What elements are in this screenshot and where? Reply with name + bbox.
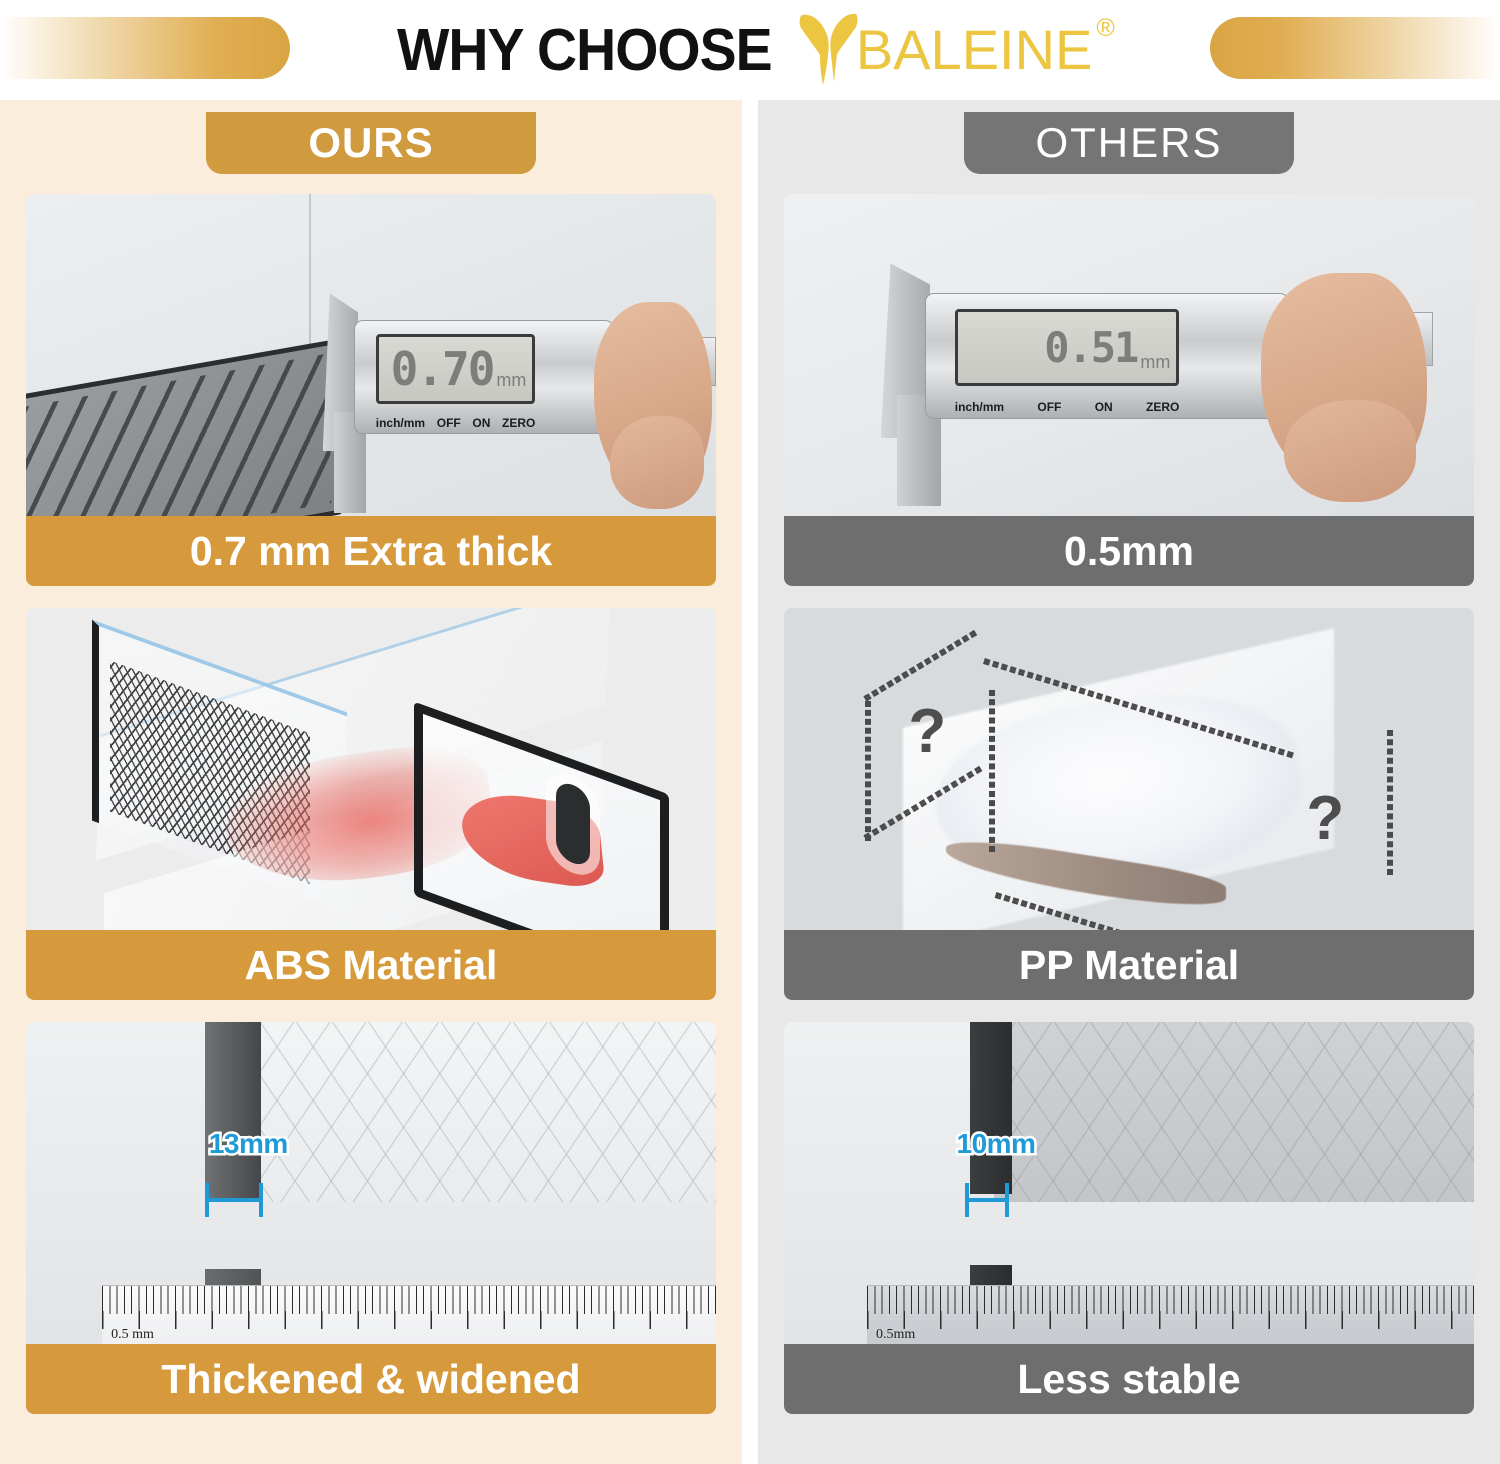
caption-ours-thickness: 0.7 mm Extra thick: [26, 516, 716, 586]
question-mark-icon-right: ?: [1306, 783, 1344, 854]
pp-outline-left: [865, 701, 871, 840]
ruler-halfmm-label: 0.5mm: [876, 1327, 915, 1343]
page-header: WHY CHOOSE BALEINE ®: [0, 0, 1500, 100]
column-others: OTHERS 70 80 0.51 mm: [758, 100, 1500, 1464]
card-others-thickness: 70 80 0.51 mm inch/mm OFF ON ZERO: [784, 194, 1474, 586]
textured-panel: [994, 1022, 1474, 1202]
frame-rail-upper: [205, 1022, 261, 1202]
card-ours-stability: 13mm 0.5 mm mm 12345678: [26, 1022, 716, 1414]
caliper-reading: 0.70: [391, 342, 494, 396]
ruler-mid-ticks: [867, 1311, 1474, 1329]
pp-outline-right: [1387, 730, 1393, 875]
card-ours-material: ABS Material: [26, 608, 716, 1000]
tab-ours[interactable]: OURS: [206, 112, 536, 174]
pp-outline-inner-edge: [989, 690, 995, 852]
card-ours-thickness: 70 80 90 0.70 mm inch/mm OFF ON ZERO: [26, 194, 716, 586]
abs-shoebox-illustration: [67, 647, 674, 961]
dimension-bracket: [965, 1183, 1009, 1217]
caliper-body: 0.51 mm inch/mm OFF ON ZERO: [925, 293, 1289, 419]
caliper-unit: mm: [1140, 352, 1170, 383]
header-accent-bar-left: [0, 17, 290, 79]
caliper-button-on[interactable]: ON: [1095, 400, 1113, 414]
pp-outline-diagonal-left: [864, 630, 978, 702]
caliper-button-row: inch/mm OFF ON ZERO: [376, 416, 536, 430]
caption-others-material: PP Material: [784, 930, 1474, 1000]
caption-others-stability: Less stable: [784, 1344, 1474, 1414]
caliper-lcd-screen: 0.70 mm: [376, 334, 536, 404]
caliper-button-on[interactable]: ON: [472, 416, 490, 430]
hand-finger: [1284, 400, 1416, 502]
frame-rail-upper: [970, 1022, 1012, 1194]
comparison-grid: OURS 70 80 90 0.70 mm: [0, 100, 1500, 1464]
registered-trademark-icon: ®: [1096, 14, 1114, 43]
column-ours: OURS 70 80 90 0.70 mm: [0, 100, 742, 1464]
cards-ours: 70 80 90 0.70 mm inch/mm OFF ON ZERO: [26, 194, 716, 1414]
header-accent-bar-right: [1210, 17, 1500, 79]
digital-caliper-others: 70 80 0.51 mm inch/mm OFF ON ZERO: [881, 249, 1433, 492]
caliper-reading: 0.51: [1044, 323, 1137, 372]
caliper-lcd-screen: 0.51 mm: [955, 309, 1180, 386]
card-others-stability: 10mm 0.5mm mm 1234567891: [784, 1022, 1474, 1414]
brand-name: BALEINE: [856, 22, 1093, 78]
pp-shoebox-illustration: ? ?: [860, 655, 1398, 945]
caption-others-thickness: 0.5mm: [784, 516, 1474, 586]
dimension-bracket: [205, 1183, 263, 1217]
caliper-body: 0.70 mm inch/mm OFF ON ZERO: [354, 320, 614, 434]
caliper-button-off[interactable]: OFF: [1037, 400, 1061, 414]
ruler-halfmm-label: 0.5 mm: [111, 1327, 154, 1343]
digital-caliper: 70 80 90 0.70 mm inch/mm OFF ON ZERO: [323, 280, 716, 500]
textured-panel: [236, 1022, 716, 1202]
ruler-mid-ticks: [102, 1311, 716, 1329]
caliper-button-inchmm[interactable]: inch/mm: [955, 400, 1004, 414]
whale-tail-icon: [798, 10, 860, 93]
caliper-button-off[interactable]: OFF: [437, 416, 461, 430]
tab-others[interactable]: OTHERS: [964, 112, 1294, 174]
cards-others: 70 80 0.51 mm inch/mm OFF ON ZERO: [784, 194, 1474, 1414]
caliper-button-inchmm[interactable]: inch/mm: [376, 416, 425, 430]
dimension-label-10mm: 10mm: [957, 1128, 1036, 1160]
dimension-label-13mm: 13mm: [209, 1128, 288, 1160]
caliper-button-row: inch/mm OFF ON ZERO: [955, 400, 1180, 414]
brand-lockup: BALEINE ®: [798, 8, 1115, 93]
caliper-unit: mm: [496, 370, 526, 401]
caption-ours-stability: Thickened & widened: [26, 1344, 716, 1414]
caption-ours-material: ABS Material: [26, 930, 716, 1000]
ruler-fine-ticks: [102, 1286, 716, 1314]
page-title: WHY CHOOSE BALEINE ®: [359, 8, 1141, 93]
caliper-button-zero[interactable]: ZERO: [502, 416, 535, 430]
ruler-fine-ticks: [867, 1286, 1474, 1314]
page-title-text: WHY CHOOSE: [397, 16, 772, 84]
hand-finger: [610, 416, 704, 508]
caliper-button-zero[interactable]: ZERO: [1146, 400, 1179, 414]
question-mark-icon-left: ?: [908, 696, 946, 767]
card-others-material: ? ? PP Material: [784, 608, 1474, 1000]
